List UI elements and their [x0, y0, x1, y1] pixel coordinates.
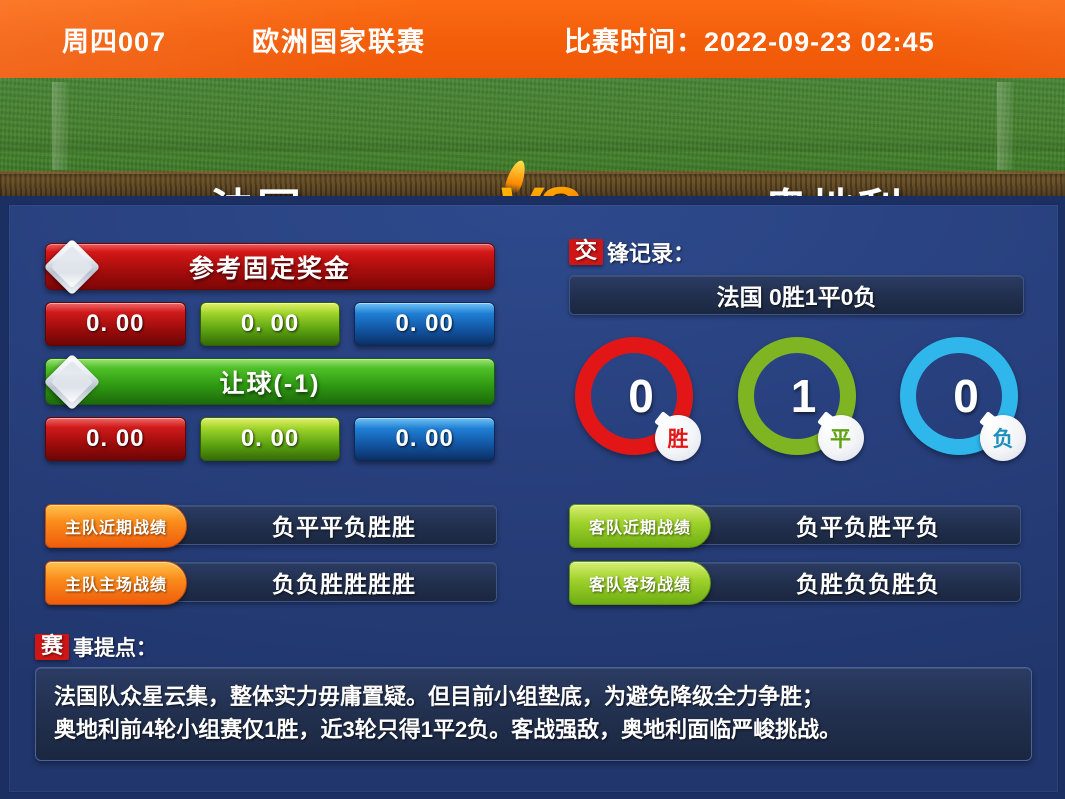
home-recent-form-row: 负平平负胜胜 主队近期战绩 — [45, 505, 497, 545]
tips-content: 法国队众星云集，整体实力毋庸置疑。但目前小组垫底，为避免降级全力争胜； 奥地利前… — [35, 667, 1032, 761]
handicap-odds-lose[interactable]: 0. 00 — [354, 417, 495, 461]
away-away-form-row: 负胜负负胜负 客队客场战绩 — [569, 562, 1021, 602]
handicap-odds-row: 0. 00 0. 00 0. 00 — [45, 417, 495, 461]
h2h-ring-win: 0 胜 — [575, 337, 693, 455]
vs-icon: VS — [486, 162, 586, 196]
handicap-header: 让球(-1) — [45, 358, 495, 405]
h2h-title: 交 锋记录： — [569, 237, 1024, 267]
h2h-draw-count: 1 — [738, 373, 856, 419]
home-home-form-row: 负负胜胜胜胜 主队主场战绩 — [45, 562, 497, 602]
match-tips-section: 赛 事提点： 法国队众星云集，整体实力毋庸置疑。但目前小组垫底，为避免降级全力争… — [35, 633, 1032, 761]
grass-texture — [0, 78, 1065, 174]
tips-title-text: 事提点： — [73, 632, 157, 662]
h2h-rings: 0 胜 1 平 0 负 — [569, 337, 1024, 455]
fixed-odds-draw[interactable]: 0. 00 — [200, 302, 341, 346]
match-time: 比赛时间：2022-09-23 02:45 — [564, 20, 935, 59]
h2h-ring-draw: 1 平 — [738, 337, 856, 455]
tips-line-1: 法国队众星云集，整体实力毋庸置疑。但目前小组垫底，为避免降级全力争胜； — [54, 680, 1013, 713]
h2h-lose-badge: 负 — [980, 415, 1026, 461]
away-recent-form-tag: 客队近期战绩 — [569, 504, 711, 548]
home-recent-form-tag: 主队近期战绩 — [45, 504, 187, 548]
h2h-title-tag: 交 — [569, 239, 603, 265]
h2h-ring-lose: 0 负 — [900, 337, 1018, 455]
odds-column: 参考固定奖金 0. 00 0. 00 0. 00 让球(-1) 0. 00 0.… — [45, 243, 495, 461]
handicap-title: 让球(-1) — [220, 364, 321, 400]
fixed-odds-title: 参考固定奖金 — [189, 249, 351, 285]
diamond-icon — [44, 238, 101, 295]
match-preview-page: 周四007 欧洲国家联赛 比赛时间：2022-09-23 02:45 法国 VS… — [0, 0, 1065, 799]
home-team-name: 法国 — [210, 174, 304, 196]
h2h-lose-badge-label: 负 — [993, 423, 1014, 453]
fixed-odds-header: 参考固定奖金 — [45, 243, 495, 290]
home-home-form-value: 负负胜胜胜胜 — [141, 562, 497, 602]
match-number: 周四007 — [62, 20, 166, 59]
handicap-odds-win[interactable]: 0. 00 — [45, 417, 186, 461]
away-recent-form-value: 负平负胜平负 — [665, 505, 1021, 545]
away-team-name: 奥地利 — [764, 174, 905, 196]
field-post-right — [997, 82, 1013, 170]
h2h-draw-badge: 平 — [818, 415, 864, 461]
h2h-title-text: 锋记录： — [607, 236, 695, 268]
h2h-win-badge: 胜 — [655, 415, 701, 461]
h2h-win-count: 0 — [575, 373, 693, 419]
head-to-head-section: 交 锋记录： 法国 0胜1平0负 0 胜 1 平 — [569, 237, 1024, 455]
h2h-win-badge-label: 胜 — [668, 423, 689, 453]
league-name: 欧洲国家联赛 — [252, 20, 426, 59]
away-form-block: 负平负胜平负 客队近期战绩 负胜负负胜负 客队客场战绩 — [569, 505, 1021, 619]
main-panel: 参考固定奖金 0. 00 0. 00 0. 00 让球(-1) 0. 00 0.… — [0, 196, 1065, 799]
team-banner: 法国 VS 奥地利 — [0, 78, 1065, 196]
home-recent-form-value: 负平平负胜胜 — [141, 505, 497, 545]
h2h-summary-bar: 法国 0胜1平0负 — [569, 275, 1024, 315]
home-form-block: 负平平负胜胜 主队近期战绩 负负胜胜胜胜 主队主场战绩 — [45, 505, 497, 619]
away-away-form-value: 负胜负负胜负 — [665, 562, 1021, 602]
away-away-form-tag: 客队客场战绩 — [569, 561, 711, 605]
page-header: 周四007 欧洲国家联赛 比赛时间：2022-09-23 02:45 — [0, 0, 1065, 78]
h2h-lose-count: 0 — [900, 373, 1018, 419]
tips-title-tag: 赛 — [35, 634, 69, 660]
fixed-odds-lose[interactable]: 0. 00 — [354, 302, 495, 346]
h2h-draw-badge-label: 平 — [830, 423, 851, 453]
fixed-odds-win[interactable]: 0. 00 — [45, 302, 186, 346]
tips-line-2: 奥地利前4轮小组赛仅1胜，近3轮只得1平2负。客战强敌，奥地利面临严峻挑战。 — [54, 713, 1013, 746]
tips-title: 赛 事提点： — [35, 633, 1032, 661]
field-post-left — [52, 82, 68, 170]
fixed-odds-row: 0. 00 0. 00 0. 00 — [45, 302, 495, 346]
home-home-form-tag: 主队主场战绩 — [45, 561, 187, 605]
handicap-odds-draw[interactable]: 0. 00 — [200, 417, 341, 461]
diamond-icon — [44, 353, 101, 410]
away-recent-form-row: 负平负胜平负 客队近期战绩 — [569, 505, 1021, 545]
